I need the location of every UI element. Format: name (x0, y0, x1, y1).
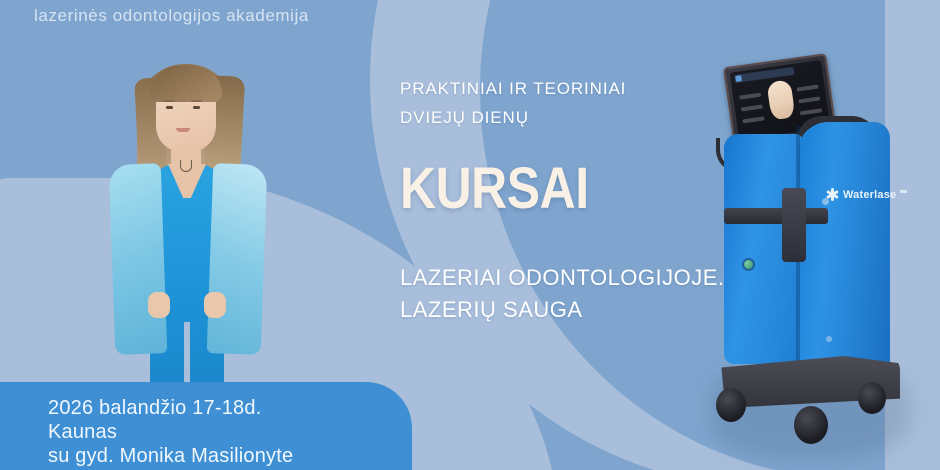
hand-left (148, 292, 170, 318)
subtitle-line-2: DVIEJŲ DIENŲ (400, 103, 626, 132)
screen-app-logo-icon (735, 75, 742, 82)
hair-top (150, 66, 222, 102)
hand-right (204, 292, 226, 318)
screen-menu-button (739, 93, 761, 100)
caster-wheel (716, 388, 746, 422)
caster-wheel (858, 382, 886, 414)
screen-menu-button (796, 85, 818, 92)
eye-left (166, 106, 173, 109)
lecturer-photo (92, 60, 282, 400)
dental-laser-device: Waterlase (700, 60, 920, 460)
device-body-right (798, 122, 890, 372)
academy-header-title: lazerinės odontologijos akademija (34, 6, 309, 26)
event-lecturer: su gyd. Monika Masilionyte (48, 444, 412, 468)
screen-menu-button (800, 108, 822, 115)
screen-menu-button (798, 96, 820, 103)
event-date: 2026 balandžio 17-18d. (48, 396, 412, 420)
device-screw (826, 336, 832, 342)
event-city: Kaunas (48, 420, 412, 444)
promo-banner: lazerinės odontologijos akademija (0, 0, 940, 470)
eye-right (193, 106, 200, 109)
snowflake-icon (826, 188, 839, 201)
blazer-left-panel (109, 163, 168, 355)
tagline-line-2: LAZERIŲ SAUGA (400, 294, 725, 326)
mouth (176, 128, 190, 132)
tagline-line-1: LAZERIAI ODONTOLOGIJOJE. (400, 262, 725, 294)
waterlase-brand-text: Waterlase (843, 189, 896, 201)
waterlase-brand-logo: Waterlase (826, 188, 907, 201)
screen-topbar (734, 67, 795, 83)
caster-wheel (794, 406, 828, 444)
subtitle-line-1: PRAKTINIAI IR TEORINIAI (400, 74, 626, 103)
device-strap-horizontal (724, 208, 828, 224)
eyebrow-right (191, 100, 202, 102)
course-subtitle: PRAKTINIAI IR TEORINIAI DVIEJŲ DIENŲ (400, 74, 626, 132)
device-indicator-knob (742, 258, 755, 271)
tooth-model-icon (766, 79, 795, 120)
device-strap-vertical (782, 188, 806, 262)
trademark-mark-icon (900, 190, 907, 193)
screen-menu-button (741, 104, 763, 111)
event-info-panel: 2026 balandžio 17-18d. Kaunas su gyd. Mo… (0, 382, 412, 470)
eyebrow-left (164, 100, 175, 102)
headline-kursai: KURSAI (400, 160, 589, 218)
blazer-right-panel (207, 163, 268, 355)
screen-menu-button (742, 116, 764, 123)
course-tagline: LAZERIAI ODONTOLOGIJOJE. LAZERIŲ SAUGA (400, 262, 725, 326)
necklace (180, 160, 192, 172)
